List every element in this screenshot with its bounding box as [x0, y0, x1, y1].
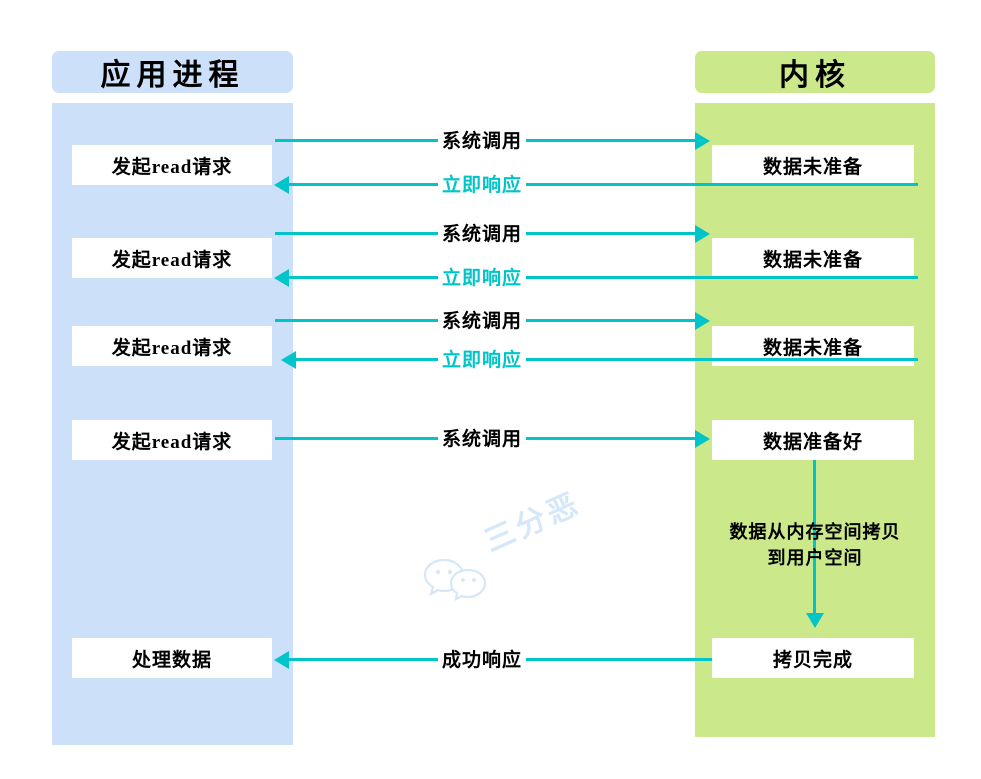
kernel-node-data-not-ready-1: 数据未准备 — [712, 145, 914, 185]
flow-label-immediate-response-3: 立即响应 — [438, 345, 526, 372]
kernel-node-data-not-ready-2: 数据未准备 — [712, 238, 914, 278]
wechat-icon — [424, 556, 494, 602]
copy-note-line-1: 数据从内存空间拷贝 — [705, 519, 925, 545]
flow-label-syscall-1: 系统调用 — [438, 126, 526, 153]
kernel-node-data-ready: 数据准备好 — [712, 420, 914, 460]
flow-arrowhead-immediate-response-1 — [274, 176, 289, 194]
flow-arrowhead-immediate-response-2 — [274, 269, 289, 287]
flow-arrowhead-syscall-2 — [695, 225, 710, 243]
kernel-node-copy-complete: 拷贝完成 — [712, 638, 914, 678]
app-process-lane-header: 应用进程 — [52, 51, 293, 93]
flow-arrowhead-success-response — [274, 651, 289, 669]
copy-note: 数据从内存空间拷贝 到用户空间 — [705, 519, 925, 571]
app-node-read-request-2: 发起read请求 — [72, 238, 272, 278]
flow-label-syscall-4: 系统调用 — [438, 424, 526, 451]
flow-arrowhead-immediate-response-3 — [281, 351, 296, 369]
flow-line-immediate-response-1 — [288, 183, 918, 186]
app-node-read-request-3: 发起read请求 — [72, 326, 272, 366]
flow-arrowhead-syscall-1 — [695, 132, 710, 150]
flow-label-immediate-response-1: 立即响应 — [438, 170, 526, 197]
copy-flow-arrowhead — [806, 613, 824, 628]
flow-arrowhead-syscall-4 — [695, 430, 710, 448]
app-node-process-data: 处理数据 — [72, 638, 272, 678]
diagram-canvas: 应用进程 内核 发起read请求 数据未准备 系统调用 立即响应 发起read请… — [0, 0, 981, 779]
app-node-read-request-4: 发起read请求 — [72, 420, 272, 460]
flow-label-success-response: 成功响应 — [438, 645, 526, 672]
flow-line-immediate-response-3 — [295, 358, 918, 361]
flow-line-immediate-response-2 — [288, 276, 918, 279]
flow-label-syscall-3: 系统调用 — [438, 306, 526, 333]
copy-note-line-2: 到用户空间 — [705, 545, 925, 571]
app-node-read-request-1: 发起read请求 — [72, 145, 272, 185]
watermark: 三分恶 — [424, 518, 614, 608]
flow-arrowhead-syscall-3 — [695, 312, 710, 330]
flow-label-immediate-response-2: 立即响应 — [438, 263, 526, 290]
kernel-lane-header: 内核 — [695, 51, 935, 93]
watermark-text: 三分恶 — [476, 479, 587, 561]
flow-label-syscall-2: 系统调用 — [438, 219, 526, 246]
